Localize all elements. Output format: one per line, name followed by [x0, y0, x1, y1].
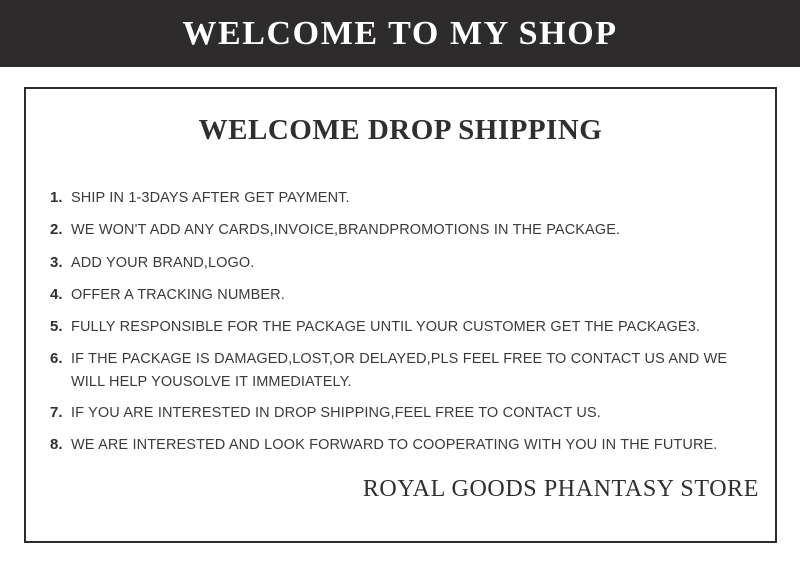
- banner-title: WELCOME TO MY SHOP: [182, 17, 617, 51]
- list-item-text: ADD YOUR BRAND,LOGO.: [71, 252, 761, 274]
- terms-content-box: WELCOME DROP SHIPPING 1. SHIP IN 1-3DAYS…: [24, 87, 777, 543]
- list-item-text: OFFER A TRACKING NUMBER.: [71, 284, 761, 306]
- header-banner: WELCOME TO MY SHOP: [0, 0, 800, 67]
- list-item: 7. IF YOU ARE INTERESTED IN DROP SHIPPIN…: [50, 402, 761, 425]
- list-item-text: FULLY RESPONSIBLE FOR THE PACKAGE UNTIL …: [71, 316, 761, 338]
- list-item: 4. OFFER A TRACKING NUMBER.: [50, 284, 761, 307]
- list-item-number: 6.: [50, 348, 71, 371]
- list-item-text-line1: IF THE PACKAGE IS DAMAGED,LOST,OR DELAYE…: [71, 351, 727, 367]
- list-item-number: 5.: [50, 316, 71, 339]
- list-item-number: 7.: [50, 402, 71, 425]
- store-signature: ROYAL GOODS PHANTASY STORE: [363, 476, 759, 503]
- list-item-text-line2: WILL HELP YOUSOLVE IT IMMEDIATELY.: [71, 371, 761, 393]
- list-item: 6. IF THE PACKAGE IS DAMAGED,LOST,OR DEL…: [50, 348, 761, 392]
- terms-list: 1. SHIP IN 1-3DAYS AFTER GET PAYMENT. 2.…: [50, 187, 761, 467]
- list-item: 8. WE ARE INTERESTED AND LOOK FORWARD TO…: [50, 434, 761, 457]
- list-item-number: 1.: [50, 187, 71, 210]
- list-item: 2. WE WON'T ADD ANY CARDS,INVOICE,BRANDP…: [50, 219, 761, 242]
- list-item-text: IF YOU ARE INTERESTED IN DROP SHIPPING,F…: [71, 402, 761, 424]
- list-item-text: SHIP IN 1-3DAYS AFTER GET PAYMENT.: [71, 187, 761, 209]
- list-item: 5. FULLY RESPONSIBLE FOR THE PACKAGE UNT…: [50, 316, 761, 339]
- list-item: 1. SHIP IN 1-3DAYS AFTER GET PAYMENT.: [50, 187, 761, 210]
- list-item-text: WE ARE INTERESTED AND LOOK FORWARD TO CO…: [71, 434, 761, 456]
- shop-banner-page: WELCOME TO MY SHOP WELCOME DROP SHIPPING…: [0, 0, 800, 565]
- list-item-number: 2.: [50, 219, 71, 242]
- list-item: 3. ADD YOUR BRAND,LOGO.: [50, 252, 761, 275]
- list-item-number: 8.: [50, 434, 71, 457]
- list-item-text: IF THE PACKAGE IS DAMAGED,LOST,OR DELAYE…: [71, 348, 761, 392]
- drop-shipping-title: WELCOME DROP SHIPPING: [26, 89, 775, 147]
- list-item-number: 4.: [50, 284, 71, 307]
- list-item-number: 3.: [50, 252, 71, 275]
- list-item-text: WE WON'T ADD ANY CARDS,INVOICE,BRANDPROM…: [71, 219, 761, 241]
